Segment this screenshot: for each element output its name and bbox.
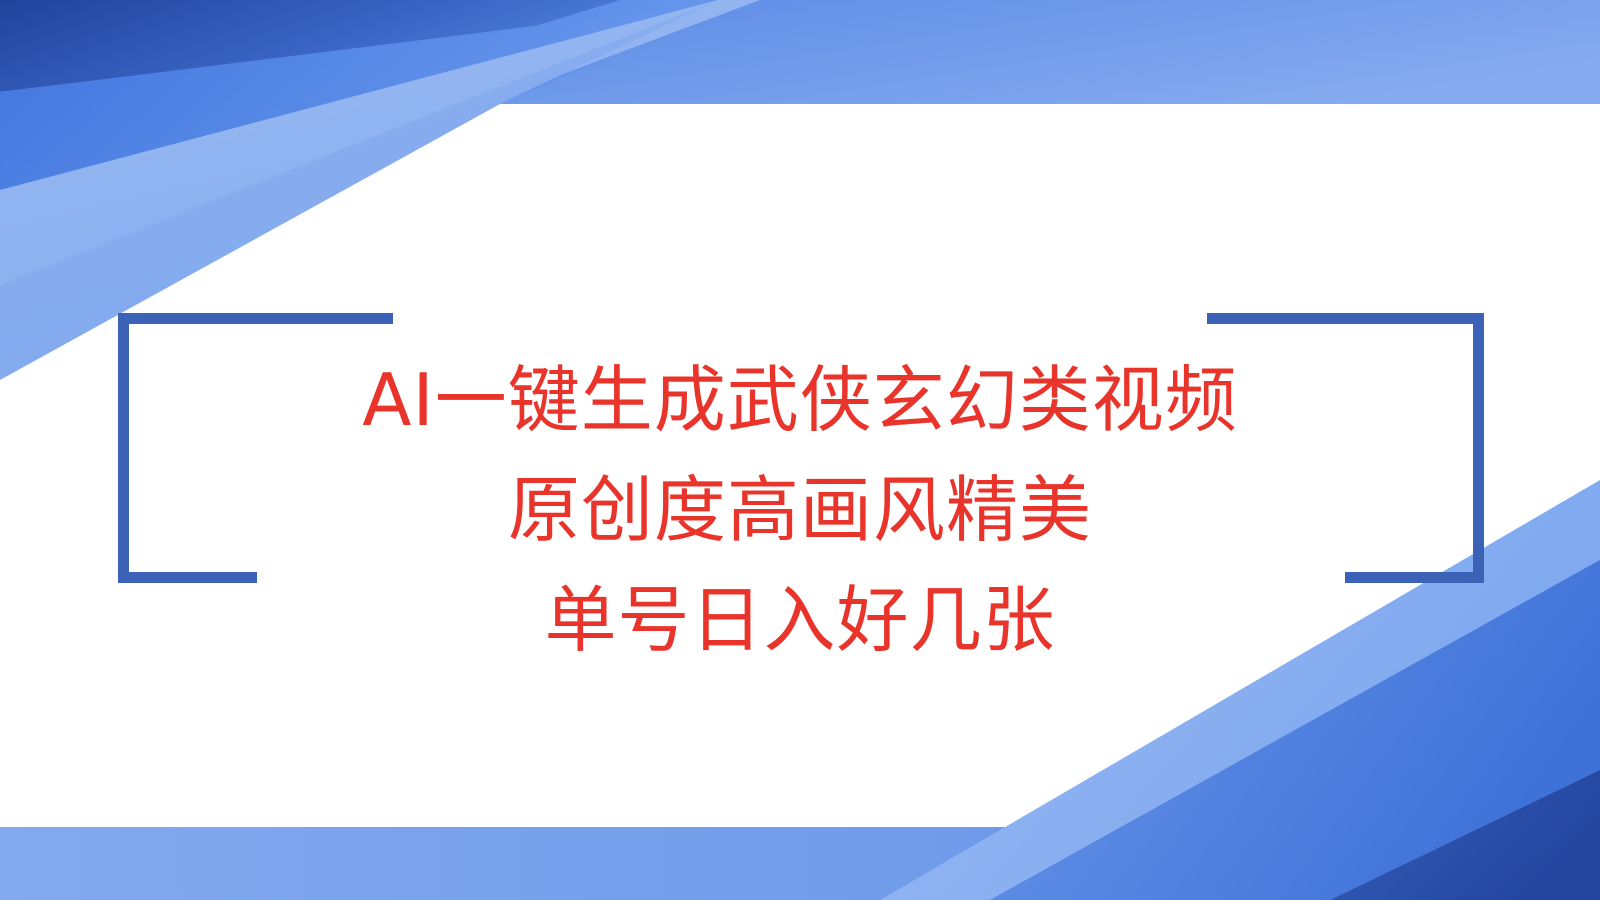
headline-line-2: 原创度高画风精美 (0, 455, 1600, 565)
headline-line-3: 单号日入好几张 (0, 565, 1600, 675)
headline-block: AI一键生成武侠玄幻类视频 原创度高画风精美 单号日入好几张 (0, 346, 1600, 675)
poster-canvas: AI一键生成武侠玄幻类视频 原创度高画风精美 单号日入好几张 (0, 0, 1600, 900)
headline-line-1: AI一键生成武侠玄幻类视频 (0, 346, 1600, 455)
